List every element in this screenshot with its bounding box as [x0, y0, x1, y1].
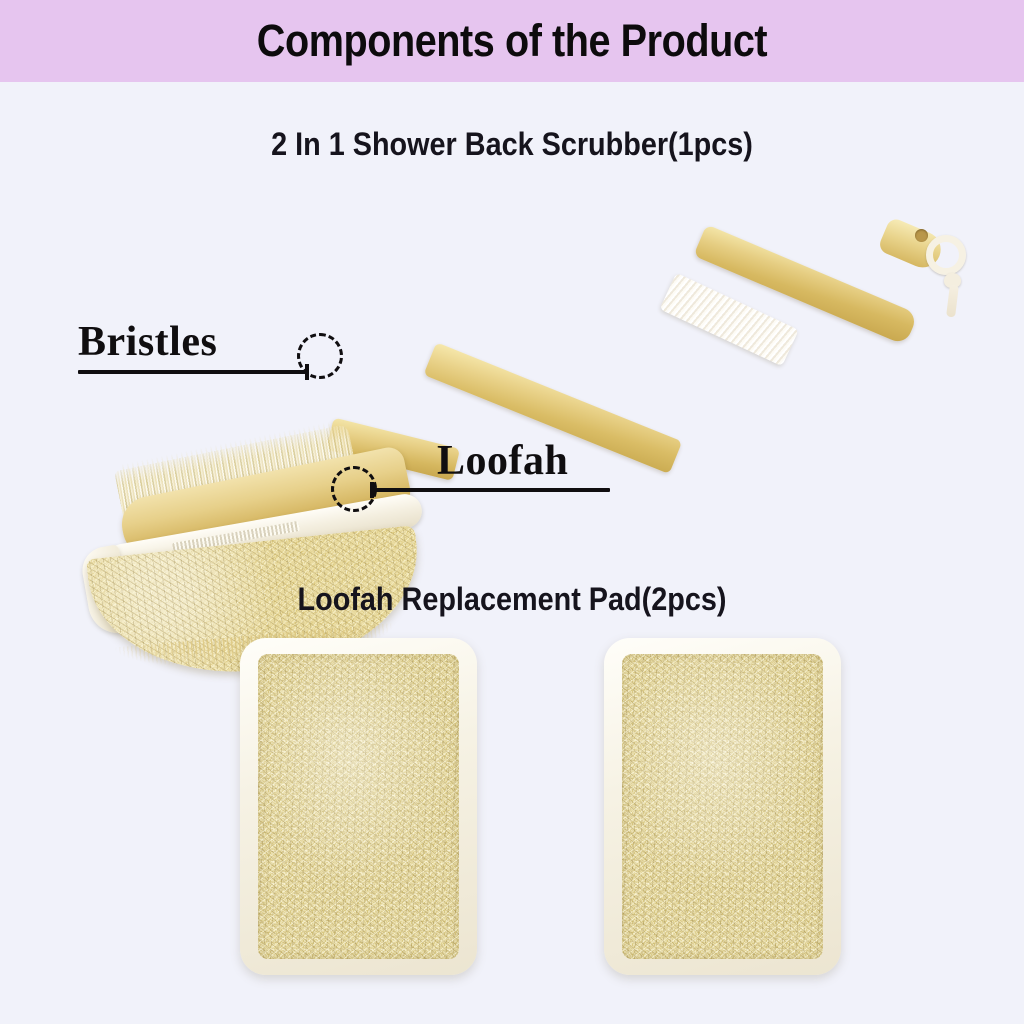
- loofah-fiber-core: [622, 654, 823, 959]
- loofah-replacement-pad: [240, 638, 477, 975]
- callout-label-loofah: Loofah: [437, 437, 568, 485]
- rope-tail: [946, 285, 959, 318]
- page-title: Components of the Product: [257, 15, 767, 67]
- loofah-fiber-core: [258, 654, 459, 959]
- header-band: Components of the Product: [0, 0, 1024, 82]
- rope-loop-icon: [926, 235, 966, 275]
- handle-hanging-hole: [915, 229, 928, 242]
- replacement-pads-illustration: [0, 615, 1024, 1005]
- callout-label-bristles: Bristles: [78, 318, 217, 366]
- callout-dashed-circle-loofah: [331, 466, 377, 512]
- callout-leader-loofah: [372, 488, 610, 492]
- loofah-replacement-pad: [604, 638, 841, 975]
- callout-dashed-circle-bristles: [297, 333, 343, 379]
- section-subtitle-replacement-pads: Loofah Replacement Pad(2pcs): [51, 581, 973, 618]
- callout-leader-bristles: [78, 370, 308, 374]
